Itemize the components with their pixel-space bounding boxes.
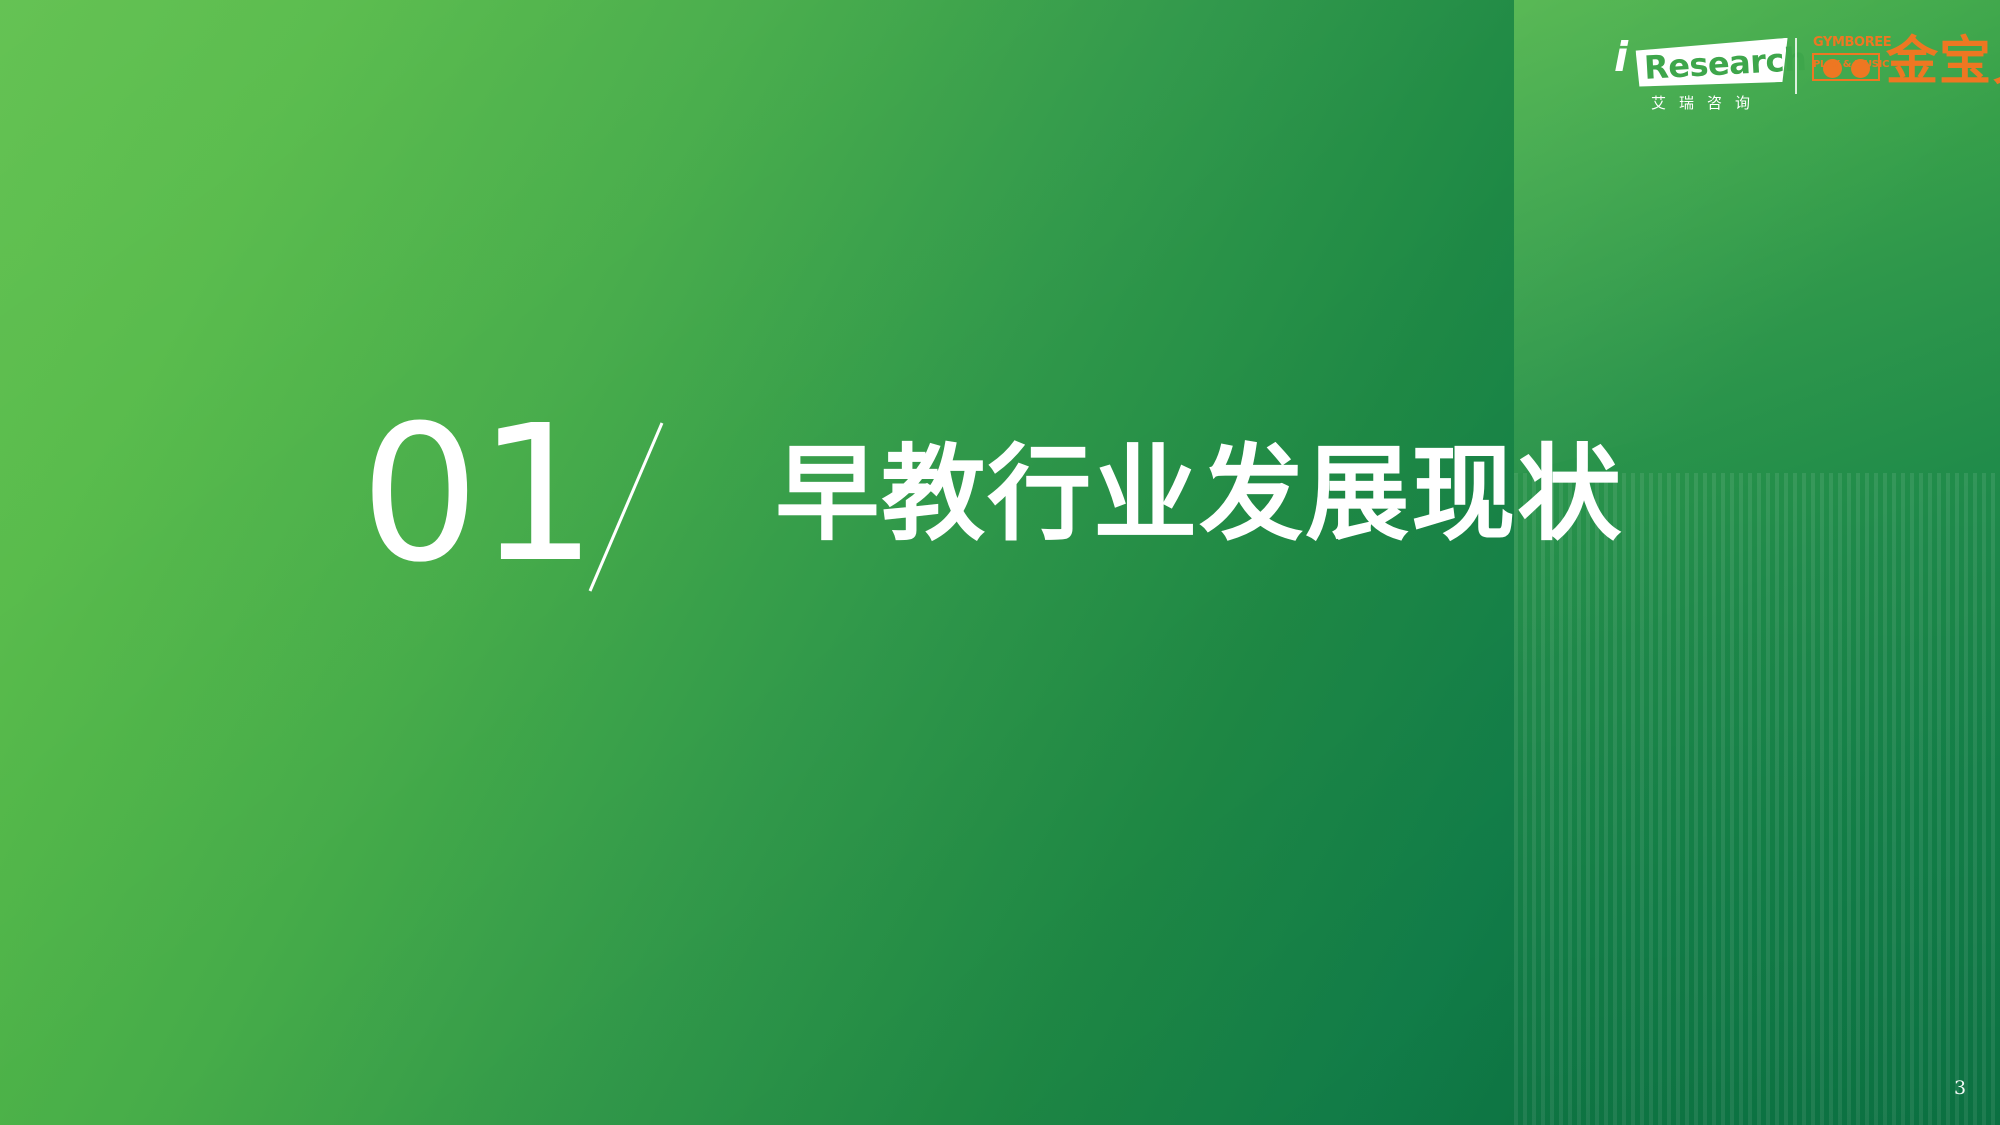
gymboree-logo: GYMBOREE PLAY & MUSIC 金宝贝 [1812,36,1992,98]
iresearch-i-mark: i [1614,37,1627,78]
section-number: 01 [360,405,595,585]
page-number: 3 [1940,1077,1980,1099]
gymboree-chinese-name: 金宝贝 [1886,34,2000,90]
iresearch-logo: i Research 艾瑞咨询 [1610,30,1792,116]
logo-divider [1795,38,1797,94]
iresearch-chinese-name: 艾瑞咨询 [1622,92,1792,113]
gymboree-brand-text: GYMBOREE [1813,36,1891,50]
iresearch-wordmark: Research [1643,43,1785,85]
page-title: 早教行业发展现状 [775,435,1623,555]
gymboree-mark: GYMBOREE PLAY & MUSIC [1812,36,1882,94]
section-title-block: 01 早教行业发展现状 [360,405,1623,585]
gymboree-tagline: PLAY & MUSIC [1813,59,1879,70]
slide-canvas: i Research 艾瑞咨询 GYMBOREE PLAY & MUSIC 金宝… [0,0,2000,1125]
